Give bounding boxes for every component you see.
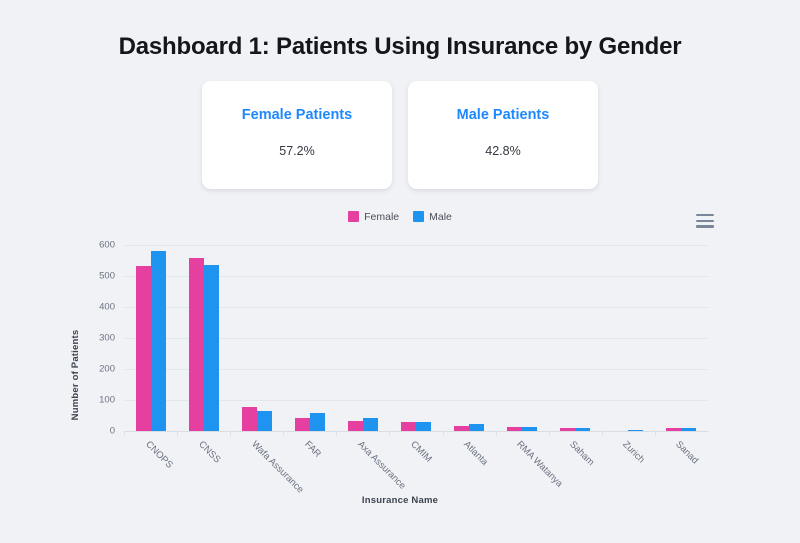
bar-male[interactable] <box>151 251 166 431</box>
bar-female[interactable] <box>189 258 204 431</box>
y-tick-label-400: 400 <box>99 301 115 312</box>
bar-male[interactable] <box>628 430 643 431</box>
plot-area: 0100200300400500600 <box>124 245 708 431</box>
legend-item-male[interactable]: Male <box>413 211 452 223</box>
y-tick-label-500: 500 <box>99 270 115 281</box>
bar-group <box>124 245 177 431</box>
kpi-card-female-patients[interactable]: Female Patients 57.2% <box>202 81 392 189</box>
bar-male[interactable] <box>416 422 431 431</box>
y-tick-label-200: 200 <box>99 363 115 374</box>
bar-female[interactable] <box>136 266 151 431</box>
bar-group <box>389 245 442 431</box>
menu-line-2 <box>696 220 714 222</box>
bar-group <box>496 245 549 431</box>
hamburger-menu-icon[interactable] <box>696 213 714 229</box>
x-label-cell: CNSS <box>177 435 230 495</box>
x-axis-tick-label: Atlanta <box>461 439 490 468</box>
page-title: Dashboard 1: Patients Using Insurance by… <box>0 16 800 62</box>
bar-female[interactable] <box>507 427 522 431</box>
kpi-value-female: 57.2% <box>279 144 314 158</box>
bar-male[interactable] <box>204 265 219 431</box>
bar-male[interactable] <box>363 418 378 430</box>
x-label-cell: Wafa Assurance <box>230 435 283 495</box>
legend-label-female: Female <box>364 211 399 223</box>
y-tick-label-300: 300 <box>99 332 115 343</box>
bar-male[interactable] <box>310 413 325 431</box>
bar-female[interactable] <box>454 426 469 431</box>
bar-male[interactable] <box>575 428 590 431</box>
bars-layer <box>124 245 708 431</box>
bar-female[interactable] <box>242 407 257 431</box>
x-axis-tick-label: Sanad <box>674 439 701 466</box>
menu-line-3 <box>696 225 714 227</box>
x-axis-title: Insurance Name <box>0 495 800 506</box>
bar-group <box>655 245 708 431</box>
bar-group <box>443 245 496 431</box>
x-axis-tick-label: CNOPS <box>143 439 175 471</box>
legend-label-male: Male <box>429 211 452 223</box>
bar-group <box>602 245 655 431</box>
legend-item-female[interactable]: Female <box>348 211 399 223</box>
x-label-cell: RMA Watanya <box>496 435 549 495</box>
bar-male[interactable] <box>522 427 537 431</box>
bar-female[interactable] <box>295 418 310 430</box>
x-label-cell: Atlanta <box>443 435 496 495</box>
bar-female[interactable] <box>401 422 416 431</box>
x-axis-tick-label: Saham <box>568 439 597 468</box>
x-axis-tick-label: Zurich <box>621 439 647 465</box>
y-tick-label-100: 100 <box>99 394 115 405</box>
x-axis-tick-label: CMIM <box>408 439 434 465</box>
kpi-title-female: Female Patients <box>242 107 352 124</box>
bar-group <box>230 245 283 431</box>
bar-female[interactable] <box>560 428 575 431</box>
bar-group <box>336 245 389 431</box>
legend-swatch-female <box>348 211 359 222</box>
bar-female[interactable] <box>348 421 363 431</box>
plot-wrapper: Number of Patients 0100200300400500600 C… <box>0 233 800 509</box>
bar-male[interactable] <box>681 428 696 430</box>
x-label-cell: Saham <box>549 435 602 495</box>
y-tick-label-0: 0 <box>110 425 115 436</box>
y-axis-title: Number of Patients <box>70 285 81 465</box>
kpi-card-row: Female Patients 57.2% Male Patients 42.8… <box>0 81 800 189</box>
legend-swatch-male <box>413 211 424 222</box>
kpi-card-male-patients[interactable]: Male Patients 42.8% <box>408 81 598 189</box>
x-axis-tick-label: CNSS <box>196 439 222 465</box>
bar-male[interactable] <box>257 411 272 431</box>
x-label-cell: Zurich <box>602 435 655 495</box>
y-tick-label-600: 600 <box>99 239 115 250</box>
x-label-cell: Sanad <box>655 435 708 495</box>
menu-line-1 <box>696 214 714 216</box>
x-axis-labels: CNOPSCNSSWafa AssuranceFARAxa AssuranceC… <box>124 435 708 495</box>
x-label-cell: Axa Assurance <box>336 435 389 495</box>
bar-group <box>283 245 336 431</box>
kpi-title-male: Male Patients <box>457 107 550 124</box>
bar-female[interactable] <box>666 428 681 430</box>
chart-legend: FemaleMale <box>0 209 800 225</box>
x-label-cell: CMIM <box>389 435 442 495</box>
x-label-cell: CNOPS <box>124 435 177 495</box>
dashboard-root: Dashboard 1: Patients Using Insurance by… <box>0 16 800 543</box>
bar-male[interactable] <box>469 424 484 431</box>
x-axis-tick-label: FAR <box>302 439 323 460</box>
gridline-0: 0 <box>124 431 708 432</box>
bar-group <box>549 245 602 431</box>
bar-group <box>177 245 230 431</box>
bar-chart: FemaleMale Number of Patients 0100200300… <box>0 209 800 509</box>
x-label-cell: FAR <box>283 435 336 495</box>
kpi-value-male: 42.8% <box>485 144 520 158</box>
